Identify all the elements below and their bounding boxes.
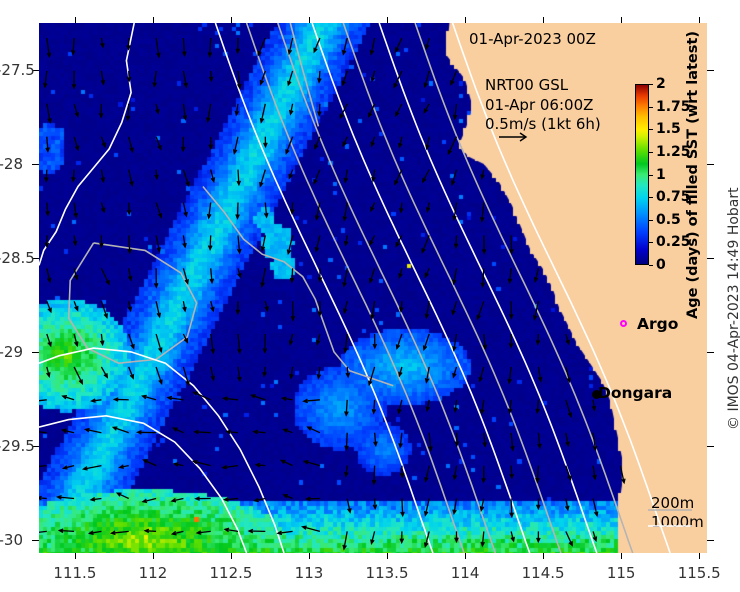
x-tick-label: 112 <box>139 564 168 582</box>
current-vector-arrow <box>44 71 47 87</box>
current-vector-arrow <box>278 531 293 534</box>
x-tick-mark <box>387 553 388 559</box>
current-vector-arrow <box>117 493 128 498</box>
current-vector-arrow <box>290 104 293 114</box>
current-vector-arrow <box>314 170 320 184</box>
colorbar-tick-mark <box>649 242 653 243</box>
current-vector-arrow <box>566 466 571 480</box>
current-vector-arrow <box>208 203 211 219</box>
current-vector-arrow <box>145 529 156 532</box>
current-vector-arrow <box>101 38 104 47</box>
current-vector-arrow <box>453 334 457 350</box>
current-vector-arrow <box>399 268 402 277</box>
current-vector-arrow <box>156 137 161 150</box>
current-vector-arrow <box>346 367 349 377</box>
current-vector-arrow <box>59 529 74 533</box>
current-vector-arrow <box>343 203 347 221</box>
current-vector-arrow <box>46 137 49 152</box>
current-vector-arrow <box>258 38 265 55</box>
current-vector-arrow <box>345 235 348 245</box>
current-vector-arrow <box>370 268 375 282</box>
current-vector-arrow <box>183 301 186 311</box>
current-vector-arrow <box>237 170 240 185</box>
current-vector-arrow <box>482 235 485 253</box>
map-overlay-layer <box>39 23 707 553</box>
current-vector-arrow <box>47 38 51 57</box>
current-vector-arrow <box>317 367 320 378</box>
current-vector-arrow <box>156 203 162 218</box>
current-vector-arrow <box>477 301 484 319</box>
bathymetry-legend-lines-icon <box>648 505 700 531</box>
current-vector-arrow <box>370 38 374 54</box>
argo-label: Argo <box>637 315 678 333</box>
current-vector-arrow <box>480 499 484 511</box>
y-tick-mark-right <box>707 446 714 447</box>
x-tick-mark <box>699 553 700 559</box>
current-vector-arrow <box>290 367 293 378</box>
current-vector-arrow <box>303 526 320 531</box>
current-vector-arrow <box>483 334 487 349</box>
x-tick-mark-top <box>153 17 154 23</box>
current-vector-arrow <box>566 499 569 510</box>
x-tick-mark <box>621 553 622 559</box>
x-tick-mark-top <box>699 17 700 23</box>
current-vector-arrow <box>211 301 214 311</box>
current-vector-arrow <box>128 235 132 252</box>
current-vector-arrow <box>422 235 429 252</box>
current-vector-arrow <box>371 71 374 81</box>
current-vector-arrow <box>224 397 238 400</box>
current-vector-arrow <box>234 137 239 154</box>
current-vector-arrow <box>282 397 292 400</box>
current-vector-arrow <box>593 531 596 540</box>
current-vector-arrow <box>453 367 457 377</box>
x-tick-label: 113 <box>295 564 324 582</box>
current-vector-arrow <box>128 301 131 311</box>
credit-text: © IMOS 04-Apr-2023 14:49 Hobart <box>726 187 740 430</box>
current-vector-arrow <box>91 498 101 501</box>
x-tick-mark <box>231 553 232 559</box>
current-vector-arrow <box>183 268 188 283</box>
current-vector-annotation: NRT00 GSL 01-Apr 06:00Z 0.5m/s (1kt 6h) <box>485 76 601 135</box>
current-vector-arrow <box>260 71 265 84</box>
current-vector-arrow <box>211 367 215 380</box>
colorbar-tick-label: 1.5 <box>656 121 681 137</box>
current-vector-arrow <box>291 301 294 320</box>
y-tick-mark-right <box>707 164 714 165</box>
current-vector-arrow <box>209 235 213 249</box>
colorbar-tick-mark <box>649 220 653 221</box>
current-vector-arrow <box>481 203 484 222</box>
current-vector-arrow <box>396 104 402 116</box>
figure-root: 01-Apr-2023 00Z NRT00 GSL 01-Apr 06:00Z … <box>0 0 740 592</box>
current-vector-arrow <box>39 430 47 433</box>
bathymetry-contour <box>203 187 393 386</box>
current-vector-arrow <box>101 170 104 182</box>
current-vector-arrow <box>47 104 51 123</box>
current-vector-arrow <box>39 400 47 403</box>
current-vector-arrow <box>155 170 159 179</box>
current-vector-arrow <box>156 334 162 352</box>
current-vector-arrow <box>225 528 238 531</box>
current-vector-arrow <box>174 428 184 433</box>
current-vector-arrow <box>400 531 403 542</box>
bathymetry-contour <box>290 23 318 126</box>
current-vector-arrow <box>254 430 265 433</box>
current-vector-arrow <box>235 104 238 115</box>
current-vector-arrow <box>236 203 239 219</box>
x-tick-mark <box>543 553 544 559</box>
current-vector-arrow <box>72 71 75 88</box>
current-vector-arrow <box>263 334 267 352</box>
current-vector-arrow <box>508 268 512 282</box>
current-vector-arrow <box>426 38 430 49</box>
x-tick-label: 115.5 <box>678 564 721 582</box>
current-vector-arrow <box>227 430 238 433</box>
current-vector-arrow <box>307 497 320 500</box>
current-vector-arrow <box>290 268 293 282</box>
current-vector-arrow <box>128 268 131 280</box>
colorbar-tick-mark <box>649 84 653 85</box>
colorbar-title: Age (days) of filled SST (wrt latest) <box>685 31 701 319</box>
current-vector-arrow <box>288 38 292 54</box>
current-vector-arrow <box>74 137 79 150</box>
y-tick-mark-right <box>707 540 714 541</box>
current-vector-arrow <box>454 235 457 247</box>
current-vector-arrow <box>196 497 211 500</box>
current-vector-arrow <box>45 170 48 182</box>
current-vector-arrow <box>593 499 598 516</box>
current-vector-arrow <box>453 499 457 514</box>
current-vector-arrow <box>566 334 569 344</box>
y-tick-mark <box>32 164 39 165</box>
current-vector-arrow <box>483 433 486 447</box>
colorbar-tick-mark <box>649 197 653 198</box>
current-vector-arrow <box>481 400 484 414</box>
current-vector-arrow <box>566 433 569 446</box>
current-vector-arrow <box>92 399 102 402</box>
y-tick-mark-right <box>707 70 714 71</box>
current-vector-arrow <box>369 104 375 117</box>
current-vector-arrow <box>347 499 351 513</box>
argo-marker-icon <box>620 320 627 327</box>
current-vector-arrow <box>620 466 625 483</box>
current-vector-arrow <box>256 463 265 466</box>
current-vector-arrow <box>252 395 266 400</box>
current-vector-arrow <box>397 334 402 349</box>
bathymetry-contour <box>39 348 284 553</box>
current-vector-arrow <box>156 235 160 251</box>
current-vector-arrow <box>566 531 572 545</box>
x-tick-mark-top <box>543 17 544 23</box>
current-vector-arrow <box>74 301 78 310</box>
current-vector-arrow <box>84 466 102 470</box>
current-vector-arrow <box>63 396 74 400</box>
current-vector-arrow <box>209 137 212 149</box>
current-vector-arrow <box>308 427 320 433</box>
current-vector-arrow <box>426 400 429 411</box>
current-vector-arrow <box>183 71 187 87</box>
current-vector-arrow <box>510 499 514 517</box>
x-tick-mark-top <box>621 17 622 23</box>
current-vector-arrow <box>479 367 484 381</box>
current-vector-arrow <box>168 396 183 399</box>
x-tick-mark <box>465 553 466 559</box>
current-vector-arrow <box>452 170 457 185</box>
current-vector-arrow <box>287 235 292 253</box>
reference-vector-arrow-icon <box>498 131 532 143</box>
current-vector-arrow <box>195 430 211 433</box>
current-vector-arrow <box>261 268 265 286</box>
x-tick-mark-top <box>231 17 232 23</box>
current-vector-arrow <box>183 235 186 247</box>
current-vector-arrow <box>509 334 512 347</box>
current-vector-arrow <box>371 301 375 318</box>
current-vector-arrow <box>238 334 241 353</box>
x-tick-label: 112.5 <box>209 564 252 582</box>
current-vector-arrow <box>101 301 107 317</box>
current-vector-arrow <box>74 334 78 346</box>
current-vector-arrow <box>284 429 293 433</box>
current-vector-arrow <box>429 433 432 451</box>
current-vector-arrow <box>538 367 541 381</box>
current-vector-arrow <box>399 433 402 448</box>
current-vector-arrow <box>482 466 485 483</box>
current-vector-arrow <box>58 496 75 499</box>
current-vector-arrow <box>260 104 265 122</box>
current-vector-arrow <box>400 301 404 311</box>
current-vector-arrow <box>371 137 374 146</box>
x-tick-mark <box>153 553 154 559</box>
current-vector-arrow <box>225 498 239 502</box>
current-vector-arrow <box>86 429 102 433</box>
current-vector-arrow <box>427 203 430 212</box>
current-vector-arrow <box>45 235 48 246</box>
current-vector-arrow <box>47 268 51 282</box>
current-vector-arrow <box>74 367 82 384</box>
current-vector-arrow <box>236 301 239 313</box>
current-vector-arrow <box>538 433 541 448</box>
current-vector-arrow <box>374 433 377 446</box>
current-vector-arrow <box>318 71 321 82</box>
current-vector-arrow <box>172 531 183 534</box>
current-vector-arrow <box>238 268 241 277</box>
current-vector-arrow <box>194 392 211 400</box>
current-vector-arrow <box>396 38 402 52</box>
current-vector-arrow <box>100 104 103 117</box>
date-stamp: 01-Apr-2023 00Z <box>469 30 596 48</box>
current-vector-arrow <box>291 203 295 214</box>
current-vector-arrow <box>372 170 375 181</box>
current-vector-arrow <box>101 268 109 284</box>
current-vector-arrow <box>129 367 134 378</box>
current-vector-arrow <box>138 431 157 434</box>
current-vector-arrow <box>153 71 156 87</box>
gsl-time-label: 01-Apr 06:00Z <box>485 96 601 116</box>
y-tick-label: -27.5 <box>0 61 23 79</box>
current-vector-arrow <box>342 71 347 85</box>
current-vector-arrow <box>373 334 376 348</box>
x-tick-label: 111.5 <box>53 564 96 582</box>
current-vector-arrow <box>238 71 241 88</box>
current-vector-arrow <box>535 268 539 281</box>
colorbar-tick-label: 0 <box>656 257 666 273</box>
dongara-label: Dongara <box>598 384 672 402</box>
colorbar-tick-mark <box>649 175 653 176</box>
current-vector-arrow <box>39 531 47 534</box>
current-vector-arrow <box>129 137 134 152</box>
current-vector-arrow <box>183 367 189 385</box>
current-vector-arrow <box>371 203 375 211</box>
current-vector-arrow <box>536 466 539 482</box>
x-tick-mark-top <box>309 17 310 23</box>
current-vector-arrow <box>343 268 347 286</box>
current-vector-arrow <box>264 137 267 147</box>
current-vector-arrow <box>46 203 49 216</box>
current-vector-arrow <box>424 104 429 113</box>
current-vector-arrow <box>345 433 348 450</box>
current-vector-arrow <box>74 203 77 218</box>
x-tick-label: 114 <box>451 564 480 582</box>
current-vector-arrow <box>211 334 215 353</box>
y-tick-label: -28 <box>0 155 23 173</box>
colorbar-tick-label: 1 <box>656 167 666 183</box>
current-vector-arrow <box>344 334 347 352</box>
bathymetry-contour <box>39 416 247 553</box>
current-vector-arrow <box>197 531 211 534</box>
current-vector-arrow <box>510 466 513 478</box>
current-vector-arrow <box>343 531 347 549</box>
gsl-source-label: NRT00 GSL <box>485 76 601 96</box>
current-vector-arrow <box>156 367 162 384</box>
current-vector-arrow <box>481 531 484 545</box>
current-vector-arrow <box>344 170 347 182</box>
y-tick-mark-right <box>707 352 714 353</box>
current-vector-arrow <box>453 104 456 119</box>
current-vector-arrow <box>265 301 268 310</box>
current-vector-arrow <box>265 203 268 217</box>
current-vector-arrow <box>315 137 320 149</box>
current-vector-arrow <box>425 499 430 516</box>
current-vector-arrow <box>155 268 158 287</box>
current-vector-arrow <box>72 38 75 54</box>
current-vector-arrow <box>452 301 457 314</box>
current-vector-arrow <box>39 496 47 499</box>
current-vector-arrow <box>261 235 265 250</box>
current-vector-arrow <box>143 499 156 503</box>
y-tick-label: -28.5 <box>0 249 23 267</box>
current-vector-arrow <box>223 466 238 469</box>
current-vector-arrow <box>101 367 107 378</box>
y-tick-label: -29 <box>0 343 23 361</box>
current-vector-arrow <box>62 429 74 433</box>
x-tick-mark-top <box>465 17 466 23</box>
current-vector-arrow <box>510 235 513 253</box>
colorbar-tick-label: 2 <box>656 76 666 92</box>
current-vector-arrow <box>508 367 511 383</box>
current-vector-arrow <box>47 367 50 377</box>
y-tick-mark-right <box>707 258 714 259</box>
current-vector-arrow <box>288 71 293 85</box>
current-vector-arrow <box>47 334 51 346</box>
current-vector-arrow <box>343 137 347 146</box>
current-vector-arrow <box>370 235 375 244</box>
current-vector-arrow <box>64 466 75 469</box>
current-vector-arrow <box>211 170 215 182</box>
current-vector-arrow <box>448 137 456 154</box>
current-vector-arrow <box>263 367 266 376</box>
bathymetry-contour <box>39 23 134 265</box>
colorbar-tick-label: 0.5 <box>656 212 681 228</box>
current-vector-arrow <box>47 301 51 312</box>
current-vector-arrow <box>425 268 429 277</box>
current-vector-arrow <box>210 268 213 282</box>
current-vector-arrow <box>345 466 348 477</box>
current-vector-arrow <box>182 137 185 151</box>
current-vector-arrow <box>144 460 157 466</box>
current-vector-arrow <box>343 38 348 54</box>
current-vector-arrow <box>289 170 292 179</box>
current-vector-arrow <box>183 334 187 342</box>
current-vector-arrow <box>156 38 160 57</box>
x-tick-mark <box>309 553 310 559</box>
current-vector-arrow <box>289 334 292 344</box>
y-tick-mark <box>32 540 39 541</box>
current-vector-arrow <box>238 367 241 381</box>
current-vector-arrow <box>401 499 404 516</box>
current-vector-arrow <box>238 235 242 253</box>
current-vector-arrow <box>372 400 375 413</box>
current-vector-arrow <box>423 170 430 182</box>
current-vector-arrow <box>284 495 293 499</box>
current-vector-arrow <box>304 461 320 466</box>
current-vector-arrow <box>315 235 320 251</box>
current-vector-arrow <box>345 400 349 416</box>
current-vector-arrow <box>425 301 429 318</box>
current-vector-arrow <box>129 170 133 186</box>
current-vector-arrow <box>120 465 129 468</box>
current-vector-arrow <box>536 400 539 413</box>
colorbar-tick-mark <box>649 265 653 266</box>
current-vector-arrow <box>129 334 134 348</box>
current-vector-arrow <box>101 334 104 345</box>
current-vector-arrow <box>174 463 183 466</box>
current-vector-arrow <box>183 203 187 217</box>
current-vector-arrow <box>249 529 265 532</box>
current-vector-arrow <box>593 466 596 479</box>
current-vector-arrow <box>208 38 211 56</box>
current-vector-arrow <box>183 170 189 186</box>
current-vector-arrow <box>156 301 160 317</box>
current-vector-arrow <box>451 71 457 85</box>
current-vector-arrow <box>100 235 103 246</box>
current-vector-arrow <box>453 268 457 283</box>
map-plot-area[interactable] <box>39 23 707 553</box>
current-vector-arrow <box>536 334 539 344</box>
current-vector-arrow <box>260 170 266 187</box>
current-vector-arrow <box>114 398 128 401</box>
colorbar-tick-mark <box>649 129 653 130</box>
current-vector-arrow <box>399 137 402 147</box>
current-vector-arrow <box>537 531 540 541</box>
current-vector-arrow <box>90 531 102 534</box>
current-vector-arrow <box>344 301 348 313</box>
current-vector-arrow <box>209 71 212 81</box>
current-vector-arrow <box>424 71 429 87</box>
y-tick-label: -30 <box>0 531 23 549</box>
current-vector-arrow <box>395 170 402 185</box>
current-vector-arrow <box>156 104 159 113</box>
